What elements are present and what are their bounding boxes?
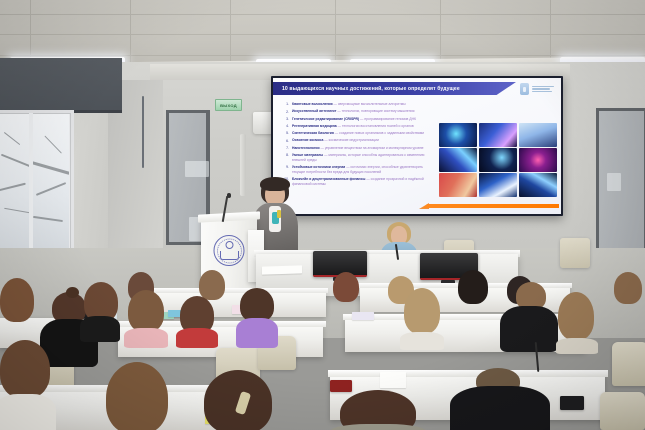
window-left [0,110,74,255]
audience-person-15 [500,282,558,348]
bullet-text: Синтетическая биология — создание новых … [292,131,424,136]
audience-person-8 [0,278,36,324]
slide-bullet-list: 1.Квантовые вычисления — сверхмощные выч… [283,102,435,189]
bullet-text: Искусственный интеллект — технологии, по… [292,109,414,114]
satellite-space-image [519,173,557,197]
bullet-number: 3. [283,117,289,122]
bullet-number: 4. [283,124,289,129]
slide-bullet-2: 2.Искусственный интеллект — технологии, … [283,109,435,114]
slide-bullet-5: 5.Синтетическая биология — создание новы… [283,131,435,136]
bullet-text: Генетическое редактирование (CRISPR) — п… [292,117,416,122]
presentation-slide[interactable]: 10 выдающихся научных достижений, которы… [273,78,561,214]
bullet-number: 1. [283,102,289,107]
slide-bullet-4: 4.Регенеративная медицина — технологии в… [283,124,435,129]
bullet-text: Нанотехнологии — управление веществом на… [292,146,424,151]
university-emblem [214,235,245,266]
logo-text-lines [532,86,554,93]
bullet-number: 5. [283,131,289,136]
window-pane-left [0,114,29,251]
window-mullion [29,113,33,252]
slide-bullet-10: 10.Блокчейн и децентрализованные финансы… [283,177,435,186]
slide-bullet-3: 3.Генетическое редактирование (CRISPR) —… [283,117,435,122]
audience-chair-5[interactable] [600,392,645,430]
bullet-number: 9. [283,165,289,174]
audience-person-14 [400,288,444,346]
slide-accent-bar [423,204,559,208]
phone-3[interactable] [560,396,584,410]
audience-person-5 [455,270,491,304]
audience-person-18 [96,362,176,430]
audience-person-21 [450,368,550,430]
audience-person-3 [330,272,362,302]
exit-sign-label: ВЫХОД [220,103,237,108]
audience-person-20 [330,390,426,430]
logo-mark-icon [520,83,529,95]
robot-hand-image [519,123,557,147]
audience-person-16 [556,292,598,350]
bullet-text: Квантовые вычисления — сверхмощные вычис… [292,102,406,107]
lecture-hall-scene: ВЫХОД 10 выдающихся научных достижений, … [0,0,645,430]
slide-title: 10 выдающихся научных достижений, которы… [273,86,460,92]
paper-front-1[interactable] [380,372,406,388]
slide-bullet-1: 1.Квантовые вычисления — сверхмощные выч… [283,102,435,107]
audience-person-11 [124,290,168,338]
neural-network-image [479,148,517,172]
slide-bullet-7: 7.Нанотехнологии — управление веществом … [283,146,435,151]
bullet-number: 6. [283,138,289,143]
audience-person-17 [0,340,56,430]
nanoparticle-image [519,148,557,172]
dna-helix-image [479,123,517,147]
slide-title-bar: 10 выдающихся научных достижений, которы… [273,82,516,95]
audience-person-19 [196,370,282,430]
bullet-number: 7. [283,146,289,151]
slide-bullet-6: 6.Освоение космоса — космические индустр… [283,138,435,143]
emergency-exit-sign: ВЫХОД [215,99,242,111]
wall-pipe [240,134,246,196]
audience-person-7 [612,272,645,304]
audience-chair-4[interactable] [612,342,645,386]
bullet-number: 2. [283,109,289,114]
blind-cord[interactable] [142,96,144,168]
laboratory-team-image [439,173,477,197]
astronaut-image [479,173,517,197]
window-blind[interactable] [0,58,122,113]
bullet-text: Умные материалы — материалы, которые спо… [292,153,435,162]
audience-person-13 [236,288,278,344]
bullet-text: Блокчейн и децентрализованные финансы — … [292,177,435,186]
door-right[interactable] [596,108,645,258]
quantum-atom-image [439,123,477,147]
slide-bullet-9: 9.Устойчивые источники энергии — источни… [283,165,435,174]
university-logo [520,83,554,95]
circuit-board-image [439,148,477,172]
window-pane-right [33,114,69,251]
audience-person-10 [80,282,120,338]
paper-on-table[interactable] [262,265,302,274]
audience-person-12 [176,296,218,340]
panel-chair-right[interactable] [560,238,590,268]
bullet-text: Освоение космоса — космические индустриа… [292,138,379,143]
bullet-text: Регенеративная медицина — технологии вос… [292,124,414,129]
podium-microphone [227,193,231,198]
bullet-number: 8. [283,153,289,162]
bullet-text: Устойчивые источники энергии — источники… [292,165,435,174]
notebook-4[interactable] [352,312,374,320]
slide-image-grid [439,123,557,197]
slide-bullet-8: 8.Умные материалы — материалы, которые с… [283,153,435,162]
